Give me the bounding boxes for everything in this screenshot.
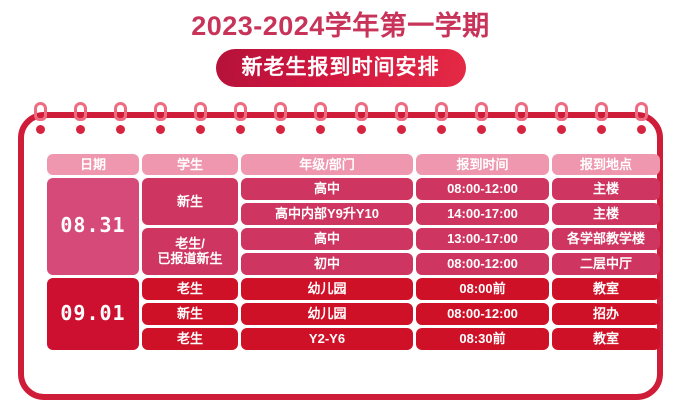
student-cell: 老生 [142, 328, 238, 350]
table-body: 08.31新生高中08:00-12:00主楼高中内部Y9升Y1014:00-17… [47, 178, 660, 350]
place-cell: 教室 [552, 278, 660, 300]
grade-cell: 幼儿园 [241, 303, 413, 325]
schedule-sheet: 日期学生年级/部门报到时间报到地点 08.31新生高中08:00-12:00主楼… [44, 151, 645, 353]
place-cell: 主楼 [552, 203, 660, 225]
date-value: 08.31 [60, 213, 125, 237]
student-cell: 新生 [142, 303, 238, 325]
column-header-2: 年级/部门 [241, 154, 413, 175]
column-header-0: 日期 [47, 154, 139, 175]
time-cell: 08:00-12:00 [416, 303, 549, 325]
place-cell: 各学部教学楼 [552, 228, 660, 250]
time-cell: 08:00-12:00 [416, 253, 549, 275]
subtitle-badge-wrap: 新老生报到时间安排 [0, 49, 681, 87]
grade-cell: 幼儿园 [241, 278, 413, 300]
time-cell: 08:00-12:00 [416, 178, 549, 200]
column-header-4: 报到地点 [552, 154, 660, 175]
time-cell: 13:00-17:00 [416, 228, 549, 250]
place-cell: 教室 [552, 328, 660, 350]
place-cell: 招办 [552, 303, 660, 325]
student-cell: 老生 [142, 278, 238, 300]
time-cell: 14:00-17:00 [416, 203, 549, 225]
title-area: 2023-2024学年第一学期 新老生报到时间安排 [0, 0, 681, 87]
grade-cell: Y2-Y6 [241, 328, 413, 350]
time-cell: 08:00前 [416, 278, 549, 300]
table-row: 09.01老生幼儿园08:00前教室 [47, 278, 660, 300]
column-header-1: 学生 [142, 154, 238, 175]
page-title: 2023-2024学年第一学期 [0, 0, 681, 44]
date-cell: 08.31 [47, 178, 139, 275]
grade-cell: 高中 [241, 228, 413, 250]
grade-cell: 高中内部Y9升Y10 [241, 203, 413, 225]
table-row: 08.31新生高中08:00-12:00主楼 [47, 178, 660, 200]
grade-cell: 初中 [241, 253, 413, 275]
schedule-table: 日期学生年级/部门报到时间报到地点 08.31新生高中08:00-12:00主楼… [44, 151, 663, 353]
date-cell: 09.01 [47, 278, 139, 350]
student-cell: 老生/已报道新生 [142, 228, 238, 275]
table-head: 日期学生年级/部门报到时间报到地点 [47, 154, 660, 175]
table-header-row: 日期学生年级/部门报到时间报到地点 [47, 154, 660, 175]
grade-cell: 高中 [241, 178, 413, 200]
place-cell: 二层中厅 [552, 253, 660, 275]
subtitle-badge: 新老生报到时间安排 [216, 49, 466, 87]
place-cell: 主楼 [552, 178, 660, 200]
date-value: 09.01 [60, 301, 125, 325]
column-header-3: 报到时间 [416, 154, 549, 175]
notebook-frame: 日期学生年级/部门报到时间报到地点 08.31新生高中08:00-12:00主楼… [18, 112, 663, 400]
student-cell: 新生 [142, 178, 238, 225]
time-cell: 08:30前 [416, 328, 549, 350]
